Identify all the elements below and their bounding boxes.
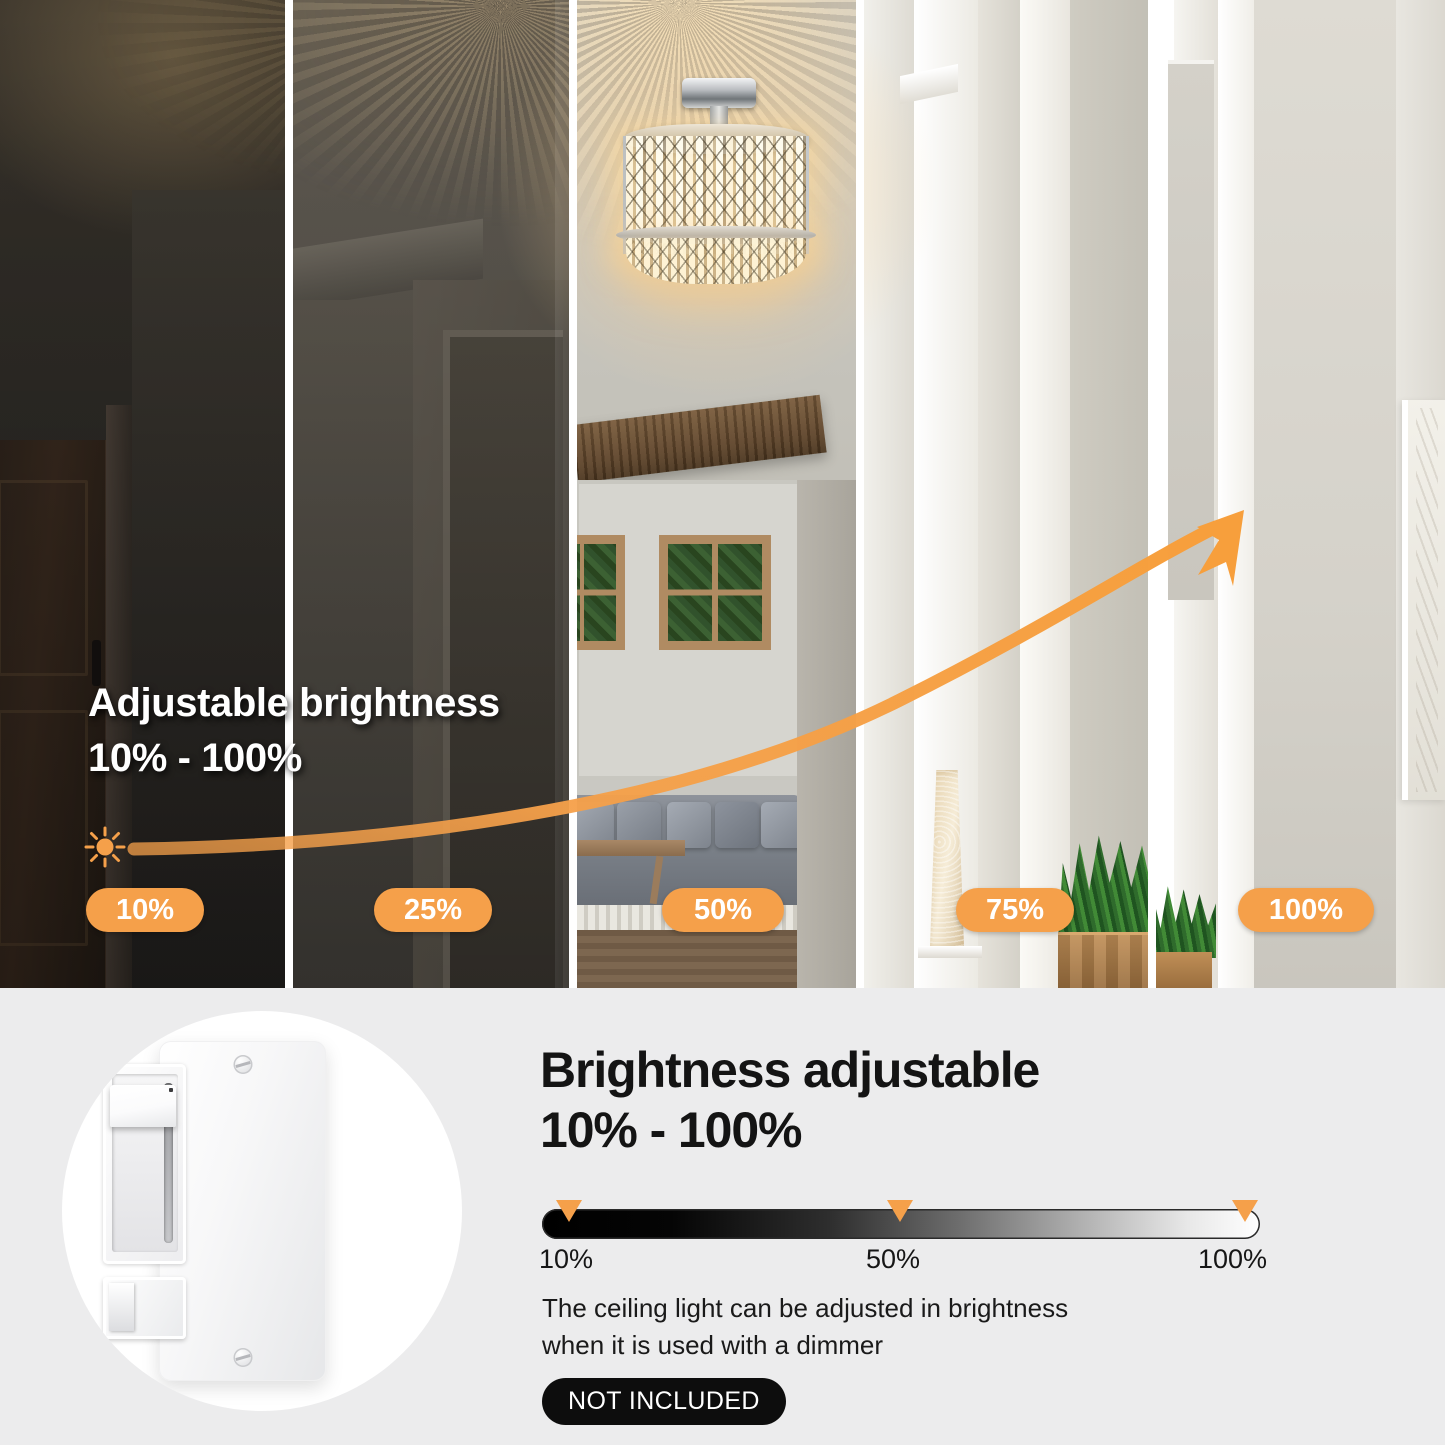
slider-marker-50[interactable] [887,1200,913,1222]
hallway-column [1070,0,1150,988]
brightness-badge-75: 75% [956,888,1074,932]
hallway-column [862,0,914,988]
bottom-title-line2: 10% - 100% [540,1100,1039,1160]
brightness-panel-75 [862,0,1150,988]
chrome-canopy [682,78,756,108]
brightness-badge-100: 100% [1238,888,1374,932]
brightness-badge-25: 25% [374,888,492,932]
wooden-planter-box [1058,932,1150,988]
sofa-cushion [715,802,759,848]
wall-pillar [797,480,856,988]
screw-icon [233,1055,252,1074]
wooden-planter-box [1156,952,1212,988]
crystal-ceiling-light-icon [596,78,836,288]
shadow-overlay [293,0,569,988]
wall-art-frame [1402,400,1445,800]
brightness-panel-10 [0,0,287,988]
slider-tick-100: 100% [1198,1244,1267,1275]
panel-divider [285,0,293,988]
shadow-overlay [0,0,287,988]
hallway-column [1020,0,1070,988]
hallway-column [1218,0,1254,988]
bottom-section: Brightness adjustable 10% - 100% 10% 50%… [0,988,1445,1445]
bottom-title-line1: Brightness adjustable [540,1042,1039,1098]
hallway-wall [1254,0,1396,988]
panel-divider [856,0,864,988]
hero-title: Adjustable brightness 10% - 100% [88,676,500,786]
slider-marker-10[interactable] [556,1200,582,1222]
bottom-title: Brightness adjustable 10% - 100% [540,1040,1039,1160]
brightness-panel-100 [1156,0,1445,988]
panel-divider [569,0,577,988]
hero-section: Adjustable brightness 10% - 100% 1 [0,0,1445,988]
hallway-column [978,0,1020,988]
doorway-opening [1168,60,1214,600]
screw-icon [233,1348,252,1367]
not-included-badge: NOT INCLUDED [542,1378,786,1425]
hero-title-line2: 10% - 100% [88,731,500,786]
crystal-shade-bottom [626,238,806,284]
window-left [575,535,625,650]
coffee-table [575,840,685,856]
description-line1: The ceiling light can be adjusted in bri… [542,1293,1068,1323]
slider-tick-10: 10% [539,1244,593,1275]
description-line2: when it is used with a dimmer [542,1327,1182,1364]
dimmer-slider-knob [110,1085,176,1127]
brightness-gradient-slider[interactable]: 10% 50% 100% [542,1200,1260,1240]
brightness-badge-10: 10% [86,888,204,932]
infographic-stage: Adjustable brightness 10% - 100% 1 [0,0,1445,1445]
hero-title-line1: Adjustable brightness [88,681,500,725]
sun-icon [84,826,126,868]
dimmer-switch-photo [62,1011,462,1411]
slider-tick-50: 50% [866,1244,920,1275]
brightness-panel-25 [293,0,569,988]
window-right [659,535,771,650]
bottom-description: The ceiling light can be adjusted in bri… [542,1290,1182,1364]
brightness-badge-50: 50% [662,888,784,932]
slider-marker-100[interactable] [1232,1200,1258,1222]
dimmer-rocker-switch [103,1277,186,1339]
panel-divider [1148,0,1156,988]
vase-shelf [918,946,982,958]
